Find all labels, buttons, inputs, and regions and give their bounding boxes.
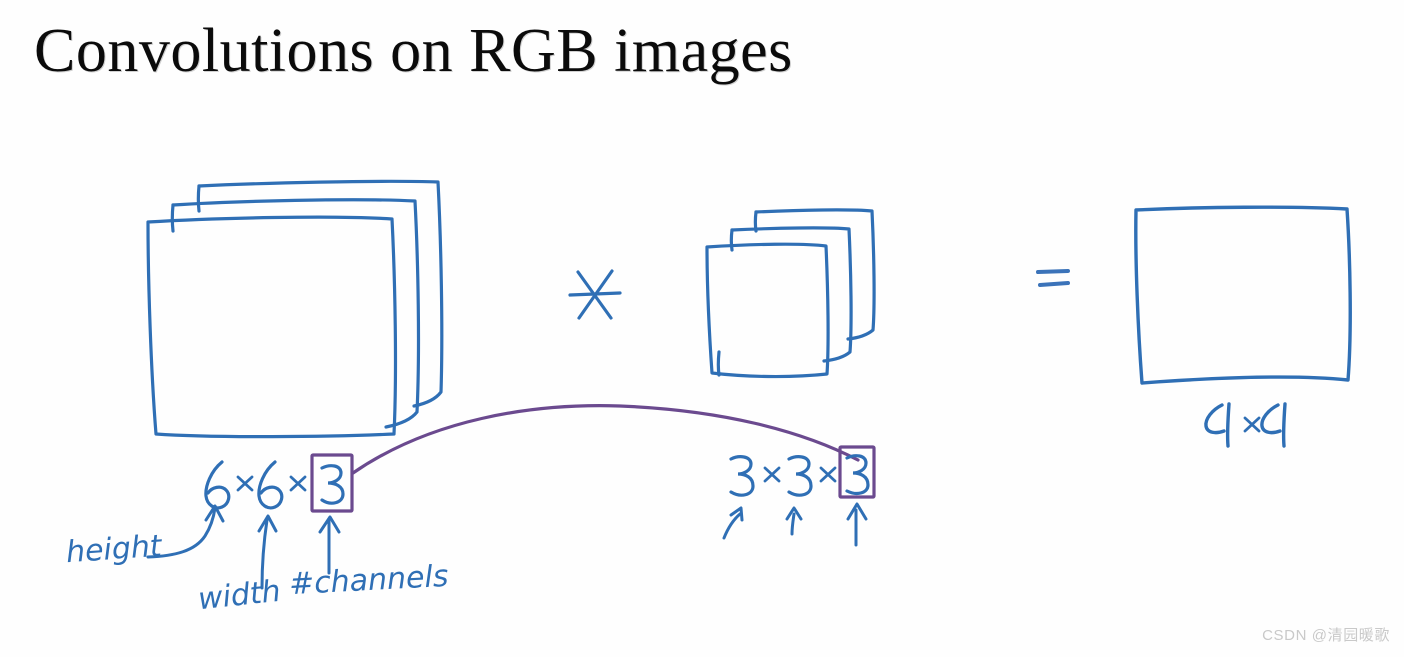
arrow-height — [148, 508, 215, 557]
input-sheet-mid — [173, 200, 418, 427]
filter-annotation-arrows — [724, 504, 866, 545]
output-square — [1136, 207, 1350, 383]
slide-canvas: Convolutions on RGB images — [0, 0, 1404, 657]
output-dim-1-glyph — [1206, 404, 1229, 446]
whiteboard-ink-layer — [0, 0, 1404, 657]
filter-sheet-mid — [732, 228, 851, 361]
equals-operator-icon — [1038, 271, 1068, 285]
input-sheet-mid-edge — [172, 205, 173, 231]
output-dims-group — [1206, 404, 1285, 446]
filter-dim-times-1 — [765, 468, 779, 481]
filter-sheet-front — [707, 244, 828, 376]
filter-dims-group — [731, 447, 874, 497]
output-activation-map — [1136, 207, 1350, 383]
input-volume — [148, 181, 442, 436]
filter-dim-1-glyph — [731, 457, 753, 495]
input-annotation-arrows — [148, 506, 339, 588]
output-dim-2-glyph — [1262, 404, 1285, 446]
input-dim-times-2 — [291, 477, 305, 490]
filter-sheet-front-tick — [718, 352, 719, 375]
input-dim-times-1 — [238, 477, 252, 490]
input-dim-height-glyph — [206, 462, 229, 508]
arrow-width — [262, 520, 267, 588]
csdn-watermark: CSDN @清园暖歌 — [1262, 624, 1390, 645]
input-sheet-back-edge — [198, 186, 199, 211]
filter-dim-2-glyph — [789, 457, 811, 495]
filter-dim-times-2 — [821, 468, 835, 481]
input-dim-width-glyph — [259, 462, 282, 508]
output-dim-times — [1245, 418, 1259, 431]
input-sheet-back — [199, 181, 442, 406]
input-sheet-front — [148, 217, 395, 437]
convolution-operator-icon — [570, 271, 620, 318]
input-dim-channels-glyph — [322, 466, 343, 503]
filter-volume — [707, 210, 874, 377]
channel-match-link — [353, 406, 858, 473]
input-dims-group — [206, 455, 352, 511]
